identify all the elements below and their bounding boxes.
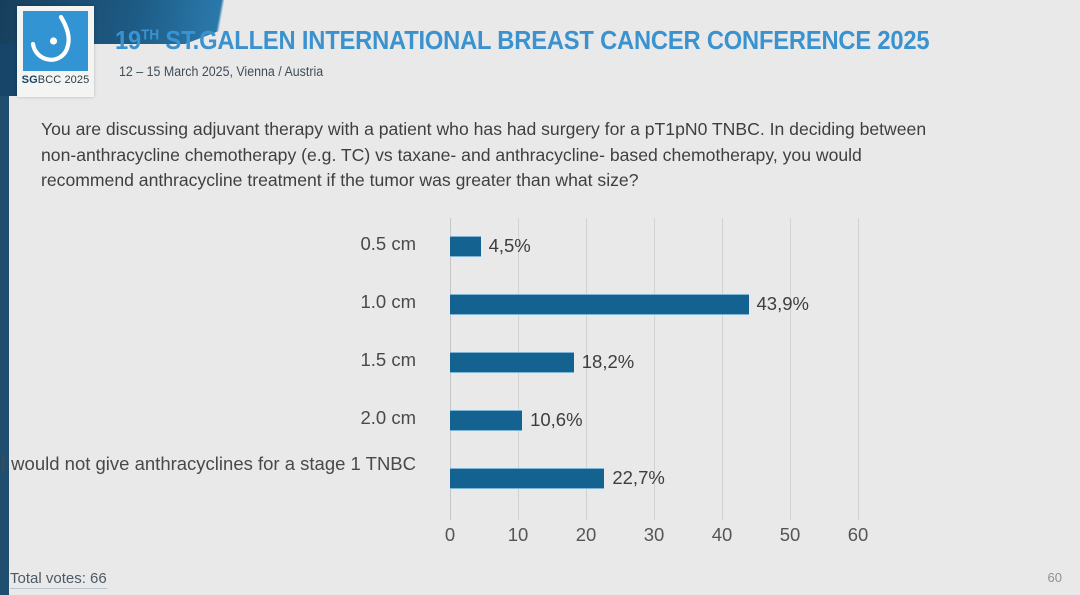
chart-bar[interactable] — [450, 294, 749, 315]
poll-question-text: You are discussing adjuvant therapy with… — [41, 117, 931, 194]
chart-category-label: I would not give anthracyclines for a st… — [0, 451, 416, 476]
chart-bar-row: I would not give anthracyclines for a st… — [450, 450, 878, 508]
chart-bar-row: 1.5 cm18,2% — [450, 334, 878, 392]
sgbcc-logo-text-rest: BCC 2025 — [38, 74, 90, 86]
x-axis-tick-label: 10 — [488, 524, 548, 546]
chart-bar-row: 0.5 cm4,5% — [450, 218, 878, 276]
chart-bar-value-label: 10,6% — [530, 409, 582, 431]
chart-bar[interactable] — [450, 352, 574, 373]
chart-bar-value-label: 4,5% — [489, 235, 531, 257]
chart-category-label: 1.5 cm — [0, 347, 416, 372]
conference-title: 19TH ST.GALLEN INTERNATIONAL BREAST CANC… — [115, 27, 929, 56]
chart-bar-value-label: 18,2% — [582, 351, 634, 373]
chart-category-label: 1.0 cm — [0, 289, 416, 314]
sgbcc-logo-text: SGBCC 2025 — [17, 74, 94, 86]
chart-category-label: 2.0 cm — [0, 405, 416, 430]
chart-plot-area: 01020304050600.5 cm4,5%1.0 cm43,9%1.5 cm… — [450, 218, 878, 520]
conference-title-ordinal: TH — [141, 28, 159, 44]
sgbcc-logo-text-bold: SG — [22, 74, 38, 86]
x-axis-tick-label: 30 — [624, 524, 684, 546]
breast-cancer-ribbon-logo-icon — [23, 11, 88, 71]
chart-bar-row: 1.0 cm43,9% — [450, 276, 878, 334]
sgbcc-logo: SGBCC 2025 — [17, 6, 94, 97]
conference-title-number: 19 — [115, 27, 141, 55]
slide-page-number: 60 — [1048, 570, 1062, 585]
conference-dates-location: 12 – 15 March 2025, Vienna / Austria — [119, 64, 323, 79]
chart-bar[interactable] — [450, 468, 604, 489]
chart-bar-row: 2.0 cm10,6% — [450, 392, 878, 450]
chart-bar-value-label: 22,7% — [612, 467, 664, 489]
x-axis-tick-label: 60 — [828, 524, 888, 546]
x-axis-tick-label: 40 — [692, 524, 752, 546]
x-axis-tick-label: 20 — [556, 524, 616, 546]
chart-bar-value-label: 43,9% — [757, 293, 809, 315]
conference-title-name: ST.GALLEN INTERNATIONAL BREAST CANCER CO… — [159, 27, 929, 55]
total-votes-label: Total votes: 66 — [10, 570, 107, 589]
x-axis-tick-label: 50 — [760, 524, 820, 546]
chart-category-label: 0.5 cm — [0, 231, 416, 256]
x-axis-tick-label: 0 — [420, 524, 480, 546]
chart-bar[interactable] — [450, 410, 522, 431]
chart-bar[interactable] — [450, 236, 481, 257]
poll-results-bar-chart: 01020304050600.5 cm4,5%1.0 cm43,9%1.5 cm… — [0, 210, 1080, 550]
conference-header: SGBCC 2025 19TH ST.GALLEN INTERNATIONAL … — [0, 0, 1080, 100]
